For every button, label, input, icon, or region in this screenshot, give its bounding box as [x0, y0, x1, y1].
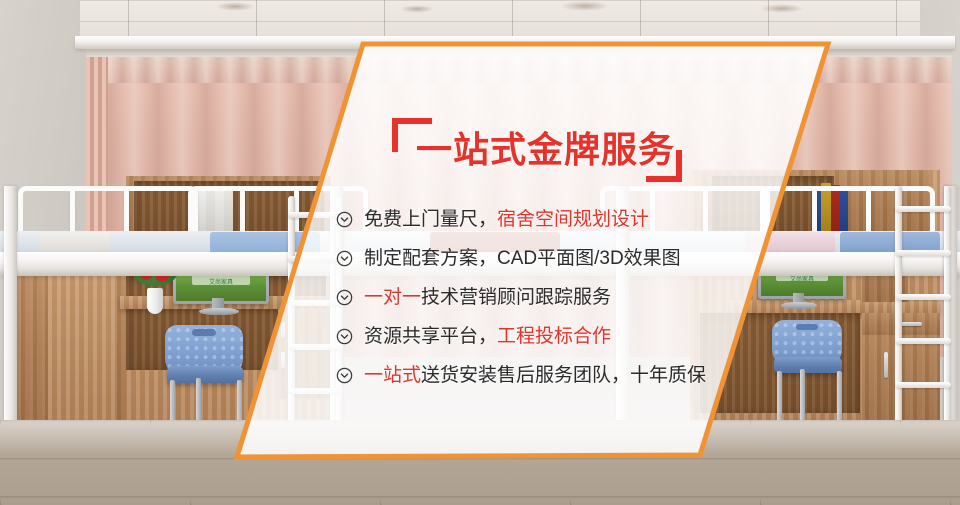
list-item-text-plain-before: 资源共享平台， [364, 326, 497, 347]
list-item-text-highlight: 一站式 [364, 365, 421, 386]
circled-chevron-down-icon [336, 328, 353, 345]
circled-chevron-down-icon [336, 289, 353, 306]
list-item-text-plain-before: 制定配套方案，CAD平面图/3D效果图 [364, 248, 681, 269]
list-item-text-highlight: 宿舍空间规划设计 [497, 209, 649, 230]
list-item-text-plain-before: 免费上门量尺， [364, 209, 497, 230]
list-item-text: 资源共享平台，工程投标合作 [364, 326, 611, 348]
list-item: 一对一技术营销顾问跟踪服务 [336, 278, 756, 317]
circled-chevron-down-icon [336, 367, 353, 384]
circled-chevron-down-icon [336, 250, 353, 267]
list-item-text: 一站式送货安装售后服务团队，十年质保 [364, 365, 706, 387]
list-item-text: 免费上门量尺，宿舍空间规划设计 [364, 209, 649, 231]
promo-content: 一站式金牌服务 免费上门量尺，宿舍空间规划设计 制定配套方案，CAD平面图/3D… [0, 0, 960, 505]
list-item-text-highlight: 工程投标合作 [497, 326, 611, 347]
list-item: 一站式送货安装售后服务团队，十年质保 [336, 356, 756, 395]
list-item-text-plain-after: 技术营销顾问跟踪服务 [421, 287, 611, 308]
list-item-text-plain-after: 送货安装售后服务团队，十年质保 [421, 365, 706, 386]
list-item-text: 制定配套方案，CAD平面图/3D效果图 [364, 248, 681, 270]
page-title: 一站式金牌服务 [416, 129, 675, 171]
list-item-text-highlight: 一对一 [364, 287, 421, 308]
list-item: 制定配套方案，CAD平面图/3D效果图 [336, 239, 756, 278]
service-feature-list: 免费上门量尺，宿舍空间规划设计 制定配套方案，CAD平面图/3D效果图 一对一技… [336, 200, 756, 395]
list-item: 免费上门量尺，宿舍空间规划设计 [336, 200, 756, 239]
circled-chevron-down-icon [336, 211, 353, 228]
list-item-text: 一对一技术营销顾问跟踪服务 [364, 287, 611, 309]
list-item: 资源共享平台，工程投标合作 [336, 317, 756, 356]
title-block: 一站式金牌服务 [392, 118, 682, 182]
promo-banner: AS 艾尚家具 [0, 0, 960, 505]
